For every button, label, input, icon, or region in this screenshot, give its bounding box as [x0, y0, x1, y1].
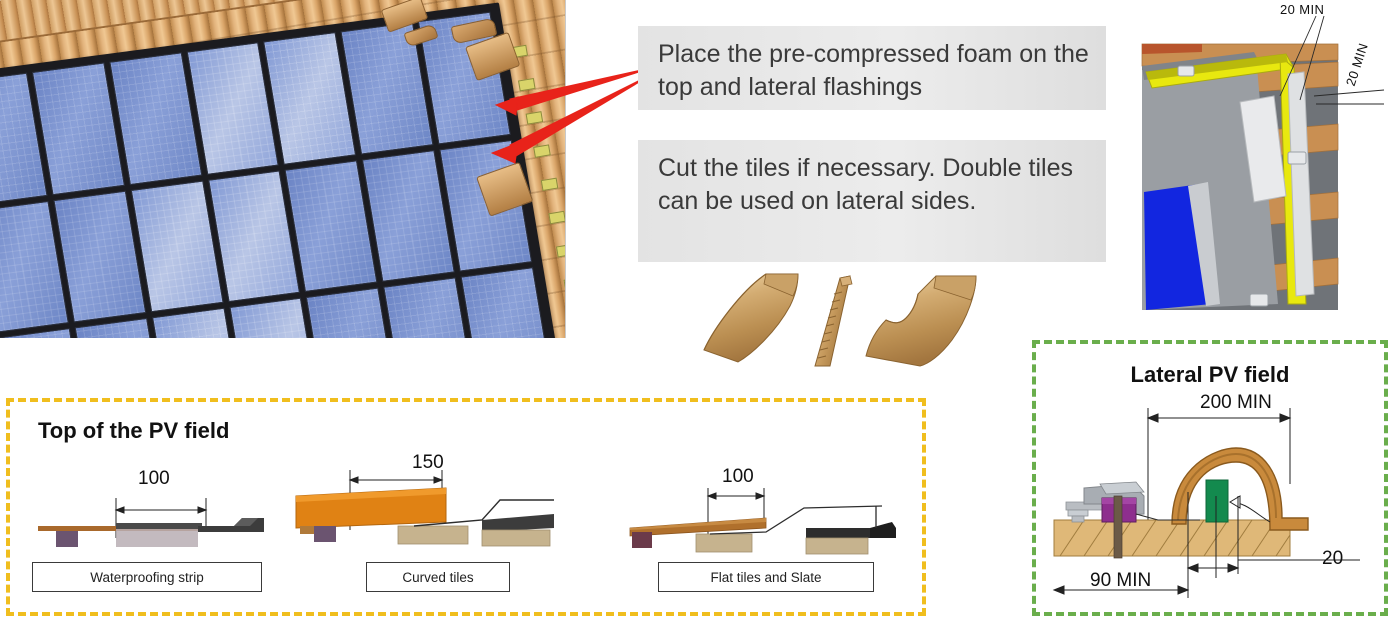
roof-tile-renders [690, 262, 990, 378]
caption-flat-tiles-slate: Flat tiles and Slate [658, 562, 874, 592]
dim-label-90-min: 90 MIN [1090, 570, 1151, 592]
tile-lip [300, 526, 316, 534]
pv-panel [32, 62, 125, 194]
support-block [314, 526, 336, 542]
pv-panel [53, 190, 146, 322]
whole-curved-tile [704, 274, 798, 362]
cut-tile [866, 276, 976, 366]
tile-edge-profile [815, 276, 852, 366]
batten [398, 526, 468, 544]
pv-panel [130, 180, 223, 312]
diagram-flat-tiles-slate [620, 462, 910, 562]
curved-tile-arch [1172, 448, 1308, 530]
caption-waterproofing-strip: Waterproofing strip [32, 562, 262, 592]
pv-panel [285, 160, 378, 292]
batten [116, 529, 198, 547]
flashing-corner-detail: 20 MIN 20 MIN [1128, 4, 1394, 326]
pv-panel [362, 150, 455, 282]
caption-curved-tiles: Curved tiles [366, 562, 510, 592]
batten [696, 534, 752, 552]
support-block [632, 532, 652, 548]
support-block [56, 531, 78, 547]
dim-label-100-b: 100 [722, 466, 754, 488]
dim-label-150: 150 [412, 452, 444, 474]
panel-top-title: Top of the PV field [38, 418, 229, 444]
screw [1114, 496, 1122, 558]
tech-label-20-min-top: 20 MIN [1280, 2, 1324, 17]
pv-panel [263, 32, 356, 164]
pv-panel [186, 42, 279, 174]
flashing-plate [116, 523, 202, 529]
pv-panel [109, 52, 202, 184]
panel-lateral-title: Lateral PV field [1032, 362, 1388, 388]
metal-flashing-profile [482, 514, 554, 532]
pre-compressed-foam [1206, 480, 1228, 522]
pv-panel [208, 170, 301, 302]
callout-text-cut-tiles: Cut the tiles if necessary. Double tiles… [638, 140, 1106, 262]
wood-support-board [1054, 520, 1290, 556]
dim-label-200-min: 200 MIN [1200, 392, 1272, 414]
dim-label-100-a: 100 [138, 468, 170, 490]
callout-text-foam: Place the pre-compressed foam on the top… [638, 26, 1106, 110]
pv-panel [461, 267, 554, 338]
dim-label-20: 20 [1322, 548, 1343, 570]
